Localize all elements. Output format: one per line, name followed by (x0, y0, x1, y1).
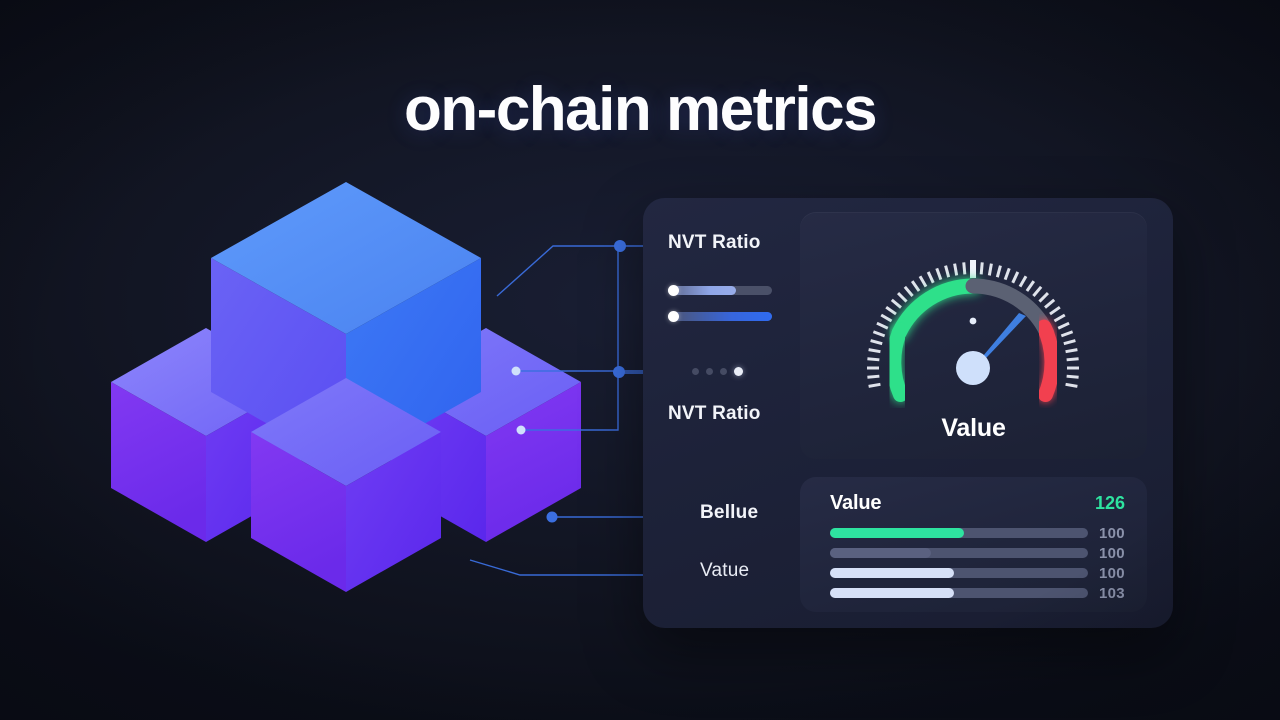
gauge-tick (928, 272, 933, 283)
bar-row[interactable]: 100 (830, 528, 1125, 538)
bar-fill (830, 528, 964, 538)
gauge-tick (1020, 276, 1026, 286)
gauge-tick (881, 315, 891, 321)
gauge-tick (886, 307, 896, 314)
bar-fill (830, 568, 954, 578)
gauge-tick (1045, 300, 1054, 308)
slider-2[interactable] (668, 312, 772, 321)
gauge-tick (867, 359, 879, 360)
gauge-widget (800, 218, 1147, 408)
connector-dot-cube-2 (517, 426, 526, 435)
bar-value: 100 (1099, 525, 1125, 542)
gauge-tick (1005, 268, 1009, 279)
gauge-tick (1033, 287, 1041, 296)
bar-row[interactable]: 100 (830, 568, 1125, 578)
metric-label-group-upper: NVT Ratio (668, 232, 798, 254)
gauge-tick (867, 376, 879, 377)
pagination-dot-3[interactable] (720, 368, 727, 375)
slider-1[interactable] (668, 286, 772, 295)
gauge-tick (997, 266, 1000, 278)
slider-2-fill (668, 312, 772, 321)
bar-row[interactable]: 100 (830, 548, 1125, 558)
metric-label-nvt-ratio-2: NVT Ratio (668, 403, 761, 425)
bar-track (830, 528, 1088, 538)
gauge-tick (981, 262, 982, 274)
gauge-tick (892, 300, 901, 308)
bar-row-list: 100 100 100 103 (830, 528, 1125, 608)
gauge-tick (912, 281, 919, 291)
bar-row[interactable]: 103 (830, 588, 1125, 598)
gauge-arc-green-lower (894, 333, 901, 395)
bar-value: 103 (1099, 585, 1125, 602)
gauge-tick (1067, 376, 1079, 377)
gauge-tick (1066, 350, 1078, 352)
bar-value: 100 (1099, 565, 1125, 582)
connector-node-3 (547, 512, 558, 523)
gauge-tick (946, 266, 949, 278)
gauge-card: Value (800, 212, 1147, 459)
gauge-tick (1039, 293, 1047, 301)
gauge-tick (1013, 272, 1018, 283)
metric-label-group-mid: NVT Ratio (668, 403, 761, 425)
slider-2-knob[interactable] (668, 311, 679, 322)
connector-node-1 (614, 240, 626, 252)
gauge-tick (1050, 307, 1060, 314)
gauge-tick (873, 332, 884, 336)
gauge-tick (1054, 315, 1064, 321)
gauge-center-marker (970, 318, 977, 325)
bars-card-title: Value (830, 492, 881, 515)
gauge-tick (989, 264, 991, 276)
gauge-svg (800, 218, 1147, 408)
gauge-tick (1027, 281, 1034, 291)
gauge-caption: Value (800, 414, 1147, 443)
gauge-tick (1067, 359, 1079, 360)
bar-track (830, 568, 1088, 578)
gauge-tick (955, 264, 957, 276)
slider-1-knob[interactable] (668, 285, 679, 296)
bar-track (830, 588, 1088, 598)
gauge-tick (920, 276, 926, 286)
gauge-tick (869, 350, 881, 352)
gauge-tick (1064, 341, 1076, 344)
gauge-needle-hub (956, 351, 990, 385)
pagination-dot-4-active[interactable] (734, 367, 743, 376)
gauge-arc-red (1044, 327, 1052, 394)
gauge-tick (964, 262, 965, 274)
gauge-tick (871, 341, 883, 344)
slider-group (668, 286, 772, 338)
metric-label-nvt-ratio-1: NVT Ratio (668, 232, 798, 254)
bar-fill (830, 588, 954, 598)
pagination-dot-1[interactable] (692, 368, 699, 375)
gauge-tick (877, 323, 888, 328)
pagination-dot-2[interactable] (706, 368, 713, 375)
gauge-tick (1066, 384, 1078, 386)
gauge-arc-gray (973, 286, 1041, 321)
value-bars-card: Value 126 100 100 100 (800, 477, 1147, 612)
gauge-tick (937, 268, 941, 279)
bar-value: 100 (1099, 545, 1125, 562)
bars-card-headline-value: 126 (1095, 493, 1125, 514)
connector-node-2 (613, 366, 625, 378)
bars-card-header: Value 126 (830, 492, 1125, 515)
gauge-tick (869, 384, 881, 386)
bar-fill (830, 548, 931, 558)
gauge-tick (1061, 332, 1072, 336)
gauge-tick (898, 293, 906, 301)
bar-track (830, 548, 1088, 558)
gauge-tick (905, 287, 913, 296)
slide-canvas: on-chain metrics (0, 0, 1280, 720)
gauge-tick (1058, 323, 1069, 328)
connector-dot-cube-1 (512, 367, 521, 376)
pagination-dots[interactable] (692, 367, 743, 376)
